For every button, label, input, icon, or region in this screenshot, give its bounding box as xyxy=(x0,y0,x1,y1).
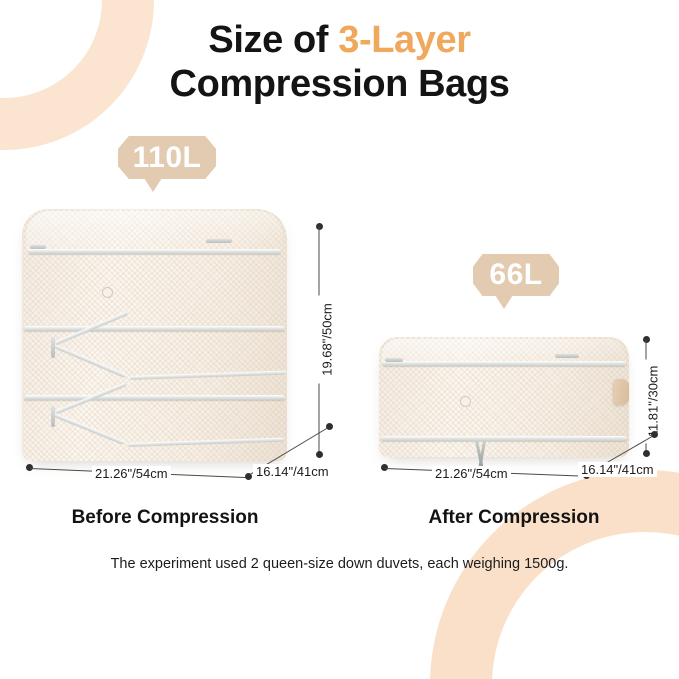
air-valve-grommet xyxy=(102,287,113,298)
zipper-tab-top-right[interactable] xyxy=(206,239,232,243)
caption-before-compression: Before Compression xyxy=(0,507,330,529)
infographic-page: Size of 3-Layer Compression Bags 110L 19 xyxy=(0,0,679,679)
zipper-seam-layer-3 xyxy=(24,395,285,400)
volume-badge-110l-tail xyxy=(144,178,162,192)
zipper-seam-top xyxy=(28,249,281,254)
title-accent: 3-Layer xyxy=(338,19,470,61)
volume-badge-110l-label: 110L xyxy=(118,136,216,179)
volume-badge-66l-tail xyxy=(495,295,513,309)
dim-dot-height-left-bottom xyxy=(316,451,323,458)
title-line-2: Compression Bags xyxy=(0,62,679,106)
zipper-arrow-lower-3 xyxy=(51,412,125,445)
zipper-tab-top-left-right[interactable] xyxy=(385,358,403,362)
dim-dot-height-right-bottom xyxy=(643,450,650,457)
dim-label-depth-right: 16.14"/41cm xyxy=(578,462,657,477)
dim-dot-depth-right-end xyxy=(651,431,658,438)
caption-after-compression: After Compression xyxy=(349,507,679,529)
bag-before-compression xyxy=(22,209,287,461)
air-valve-grommet-right xyxy=(460,396,471,407)
side-handle[interactable] xyxy=(614,379,629,405)
zipper-tab-top-right-right[interactable] xyxy=(555,354,579,358)
dim-dot-height-left-top xyxy=(316,223,323,230)
bag-after-compression xyxy=(379,337,629,457)
zipper-arrow-lower-2 xyxy=(51,343,126,378)
dim-label-width-left: 21.26"/54cm xyxy=(92,466,171,481)
title-line-1: Size of 3-Layer xyxy=(0,18,679,62)
bag-top-face-highlight-right xyxy=(382,339,626,363)
dim-label-height-left: 19.68"/50cm xyxy=(318,296,337,384)
zipper-seam-bottom-right xyxy=(381,436,627,441)
page-title: Size of 3-Layer Compression Bags xyxy=(0,18,679,106)
zipper-seam-layer-2 xyxy=(24,326,285,331)
bag-top-face-highlight xyxy=(26,211,283,251)
dim-label-width-right: 21.26"/54cm xyxy=(432,466,511,481)
zipper-arrow-run-3 xyxy=(128,438,284,447)
dim-dot-depth-left-end xyxy=(326,423,333,430)
zipper-seam-top-right xyxy=(382,361,626,366)
title-prefix: Size of xyxy=(208,19,338,61)
zipper-tab-top-left[interactable] xyxy=(30,245,46,249)
zipper-arrow-run-2 xyxy=(130,371,286,380)
dim-label-depth-left: 16.14"/41cm xyxy=(253,464,332,479)
footnote-text: The experiment used 2 queen-size down du… xyxy=(0,556,679,572)
dim-dot-height-right-top xyxy=(643,336,650,343)
zipper-pull-layer-3[interactable] xyxy=(51,406,55,427)
volume-badge-66l-label: 66L xyxy=(473,254,559,296)
zipper-pull-layer-2[interactable] xyxy=(51,337,55,358)
